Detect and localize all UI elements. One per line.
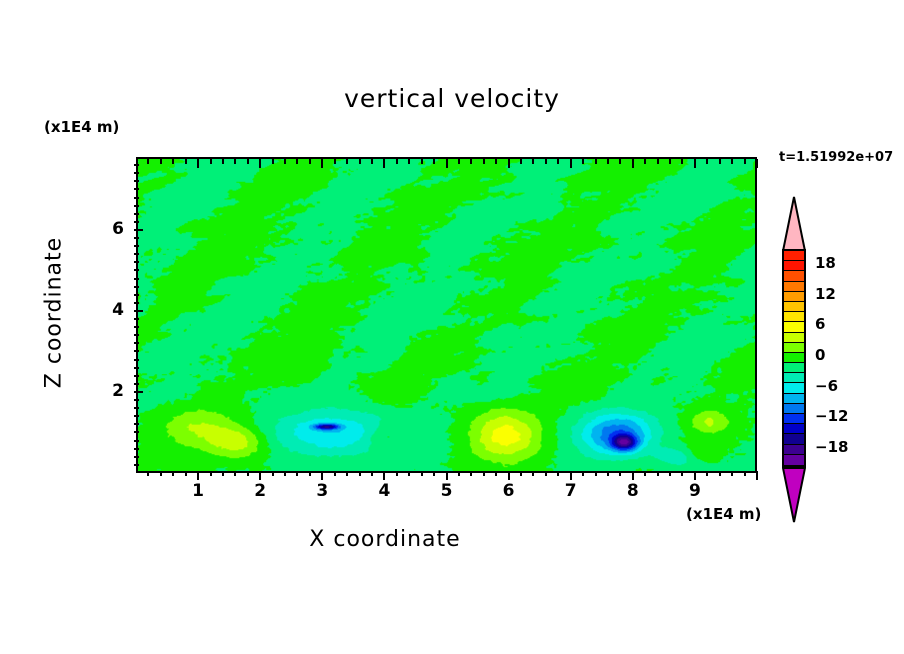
x-minor-tick — [359, 471, 361, 476]
y-major-tick — [134, 310, 143, 312]
x-major-tick — [694, 471, 696, 480]
y-minor-tick — [134, 359, 139, 361]
colorbar-band — [784, 292, 804, 302]
y-minor-tick — [134, 221, 139, 223]
colorbar-band — [784, 251, 804, 261]
x-minor-tick-top — [371, 159, 373, 164]
x-minor-tick-top — [557, 159, 559, 164]
x-minor-tick-top — [657, 159, 659, 164]
x-minor-tick — [532, 471, 534, 476]
x-minor-tick — [309, 471, 311, 476]
x-major-tick-top — [756, 159, 758, 168]
x-minor-tick — [408, 471, 410, 476]
x-major-tick-top — [446, 159, 448, 168]
x-major-tick — [321, 471, 323, 480]
y-minor-tick — [134, 440, 139, 442]
y-axis-title: Z coordinate — [42, 223, 67, 403]
x-minor-tick — [160, 471, 162, 476]
x-minor-tick — [210, 471, 212, 476]
colorbar: 181260−6−12−18 — [775, 196, 815, 520]
x-minor-tick-top — [359, 159, 361, 164]
x-minor-tick-top — [222, 159, 224, 164]
x-major-tick — [756, 471, 758, 480]
x-axis-title: X coordinate — [0, 527, 770, 552]
x-minor-tick — [147, 471, 149, 476]
y-minor-tick — [134, 164, 139, 166]
x-tick-label: 7 — [556, 481, 586, 501]
x-minor-tick-top — [147, 159, 149, 164]
x-minor-tick-top — [458, 159, 460, 164]
y-minor-tick — [134, 294, 139, 296]
y-tick-label: 6 — [98, 219, 124, 239]
x-tick-label: 4 — [369, 481, 399, 501]
x-minor-tick — [185, 471, 187, 476]
x-minor-tick-top — [247, 159, 249, 164]
colorbar-band — [784, 271, 804, 281]
x-minor-tick — [557, 471, 559, 476]
colorbar-tick-label: −18 — [815, 438, 848, 456]
x-minor-tick-top — [744, 159, 746, 164]
colorbar-band — [784, 373, 804, 383]
x-minor-tick-top — [681, 159, 683, 164]
x-minor-tick — [669, 471, 671, 476]
x-minor-tick-top — [619, 159, 621, 164]
x-tick-label: 8 — [618, 481, 648, 501]
x-minor-tick-top — [731, 159, 733, 164]
x-minor-tick-top — [346, 159, 348, 164]
y-tick-label: 4 — [98, 300, 124, 320]
x-major-tick-top — [570, 159, 572, 168]
x-minor-tick — [234, 471, 236, 476]
x-axis-unit-label: (x1E4 m) — [686, 505, 761, 523]
y-minor-tick — [134, 197, 139, 199]
colorbar-over-arrow — [782, 196, 806, 252]
x-minor-tick-top — [470, 159, 472, 164]
x-minor-tick-top — [172, 159, 174, 164]
y-minor-tick — [134, 172, 139, 174]
colorbar-tick-label: 6 — [815, 315, 825, 333]
colorbar-band — [784, 434, 804, 444]
x-major-tick-top — [383, 159, 385, 168]
x-minor-tick-top — [520, 159, 522, 164]
y-minor-tick — [134, 188, 139, 190]
y-minor-tick — [134, 318, 139, 320]
x-minor-tick — [607, 471, 609, 476]
y-minor-tick — [134, 423, 139, 425]
x-minor-tick-top — [719, 159, 721, 164]
y-minor-tick — [134, 448, 139, 450]
x-tick-label: 3 — [307, 481, 337, 501]
colorbar-under-arrow — [782, 467, 806, 523]
y-minor-tick — [134, 367, 139, 369]
x-minor-tick — [545, 471, 547, 476]
colorbar-tick-label: 18 — [815, 254, 836, 272]
y-minor-tick — [134, 237, 139, 239]
x-minor-tick — [595, 471, 597, 476]
x-minor-tick — [458, 471, 460, 476]
x-minor-tick-top — [396, 159, 398, 164]
x-minor-tick — [371, 471, 373, 476]
colorbar-band — [784, 424, 804, 434]
x-minor-tick-top — [644, 159, 646, 164]
x-minor-tick-top — [433, 159, 435, 164]
x-minor-tick — [582, 471, 584, 476]
x-minor-tick — [657, 471, 659, 476]
contour-plot-area — [136, 157, 757, 473]
y-minor-tick — [134, 213, 139, 215]
x-minor-tick-top — [284, 159, 286, 164]
y-tick-label: 2 — [98, 381, 124, 401]
colorbar-band — [784, 353, 804, 363]
colorbar-band — [784, 282, 804, 292]
x-minor-tick-top — [532, 159, 534, 164]
x-minor-tick — [719, 471, 721, 476]
y-minor-tick — [134, 431, 139, 433]
y-minor-tick — [134, 342, 139, 344]
colorbar-band — [784, 343, 804, 353]
x-minor-tick — [296, 471, 298, 476]
x-major-tick — [570, 471, 572, 480]
x-minor-tick-top — [234, 159, 236, 164]
x-major-tick — [632, 471, 634, 480]
x-minor-tick — [284, 471, 286, 476]
x-minor-tick — [744, 471, 746, 476]
y-axis-unit-label: (x1E4 m) — [44, 118, 119, 136]
x-minor-tick — [433, 471, 435, 476]
y-minor-tick — [134, 334, 139, 336]
velocity-contour-field — [138, 159, 755, 471]
colorbar-band — [784, 261, 804, 271]
x-major-tick-top — [694, 159, 696, 168]
x-minor-tick-top — [185, 159, 187, 164]
colorbar-band — [784, 383, 804, 393]
y-minor-tick — [134, 456, 139, 458]
x-minor-tick-top — [595, 159, 597, 164]
x-major-tick-top — [632, 159, 634, 168]
y-minor-tick — [134, 399, 139, 401]
colorbar-band — [784, 322, 804, 332]
x-minor-tick — [247, 471, 249, 476]
x-minor-tick-top — [421, 159, 423, 164]
x-major-tick-top — [197, 159, 199, 168]
colorbar-band — [784, 333, 804, 343]
x-minor-tick — [681, 471, 683, 476]
x-minor-tick — [421, 471, 423, 476]
x-tick-label: 1 — [183, 481, 213, 501]
x-minor-tick-top — [495, 159, 497, 164]
y-minor-tick — [134, 278, 139, 280]
x-major-tick — [197, 471, 199, 480]
timestamp-annotation: t=1.51992e+07 — [779, 150, 893, 165]
colorbar-band — [784, 363, 804, 373]
y-minor-tick — [134, 415, 139, 417]
colorbar-tick-label: 0 — [815, 346, 825, 364]
colorbar-band — [784, 455, 804, 465]
colorbar-band — [784, 414, 804, 424]
x-minor-tick-top — [545, 159, 547, 164]
x-minor-tick — [470, 471, 472, 476]
y-minor-tick — [134, 253, 139, 255]
x-tick-label: 2 — [245, 481, 275, 501]
y-minor-tick — [134, 180, 139, 182]
x-minor-tick — [495, 471, 497, 476]
y-minor-tick — [134, 350, 139, 352]
colorbar-tick-label: 12 — [815, 285, 836, 303]
x-major-tick — [383, 471, 385, 480]
x-minor-tick — [346, 471, 348, 476]
x-major-tick-top — [259, 159, 261, 168]
x-major-tick — [446, 471, 448, 480]
x-minor-tick-top — [582, 159, 584, 164]
y-major-tick — [134, 391, 143, 393]
y-minor-tick — [134, 375, 139, 377]
colorbar-band — [784, 404, 804, 414]
x-major-tick-top — [508, 159, 510, 168]
x-minor-tick-top — [669, 159, 671, 164]
x-minor-tick-top — [607, 159, 609, 164]
y-minor-tick — [134, 205, 139, 207]
y-major-tick — [134, 229, 143, 231]
colorbar-band — [784, 312, 804, 322]
x-minor-tick-top — [272, 159, 274, 164]
colorbar-band — [784, 302, 804, 312]
x-minor-tick — [222, 471, 224, 476]
x-minor-tick — [731, 471, 733, 476]
chart-title: vertical velocity — [0, 84, 904, 113]
x-minor-tick — [644, 471, 646, 476]
y-minor-tick — [134, 383, 139, 385]
y-minor-tick — [134, 407, 139, 409]
colorbar-band — [784, 394, 804, 404]
x-minor-tick — [396, 471, 398, 476]
y-minor-tick — [134, 245, 139, 247]
colorbar-bands — [782, 249, 806, 467]
colorbar-tick-label: −12 — [815, 407, 848, 425]
x-minor-tick-top — [160, 159, 162, 164]
x-minor-tick-top — [210, 159, 212, 164]
y-minor-tick — [134, 269, 139, 271]
y-minor-tick — [134, 302, 139, 304]
x-minor-tick — [334, 471, 336, 476]
colorbar-tick-label: −6 — [815, 377, 838, 395]
x-minor-tick — [172, 471, 174, 476]
x-major-tick-top — [321, 159, 323, 168]
y-minor-tick — [134, 261, 139, 263]
x-major-tick — [508, 471, 510, 480]
x-minor-tick-top — [296, 159, 298, 164]
x-minor-tick-top — [309, 159, 311, 164]
x-minor-tick-top — [706, 159, 708, 164]
x-minor-tick — [272, 471, 274, 476]
x-minor-tick — [706, 471, 708, 476]
x-minor-tick — [520, 471, 522, 476]
colorbar-band — [784, 445, 804, 455]
x-tick-label: 6 — [494, 481, 524, 501]
x-major-tick — [259, 471, 261, 480]
x-minor-tick-top — [408, 159, 410, 164]
x-minor-tick — [619, 471, 621, 476]
x-minor-tick-top — [334, 159, 336, 164]
x-tick-label: 5 — [432, 481, 462, 501]
x-minor-tick-top — [483, 159, 485, 164]
x-tick-label: 9 — [680, 481, 710, 501]
x-minor-tick — [483, 471, 485, 476]
y-minor-tick — [134, 464, 139, 466]
y-minor-tick — [134, 326, 139, 328]
y-minor-tick — [134, 286, 139, 288]
